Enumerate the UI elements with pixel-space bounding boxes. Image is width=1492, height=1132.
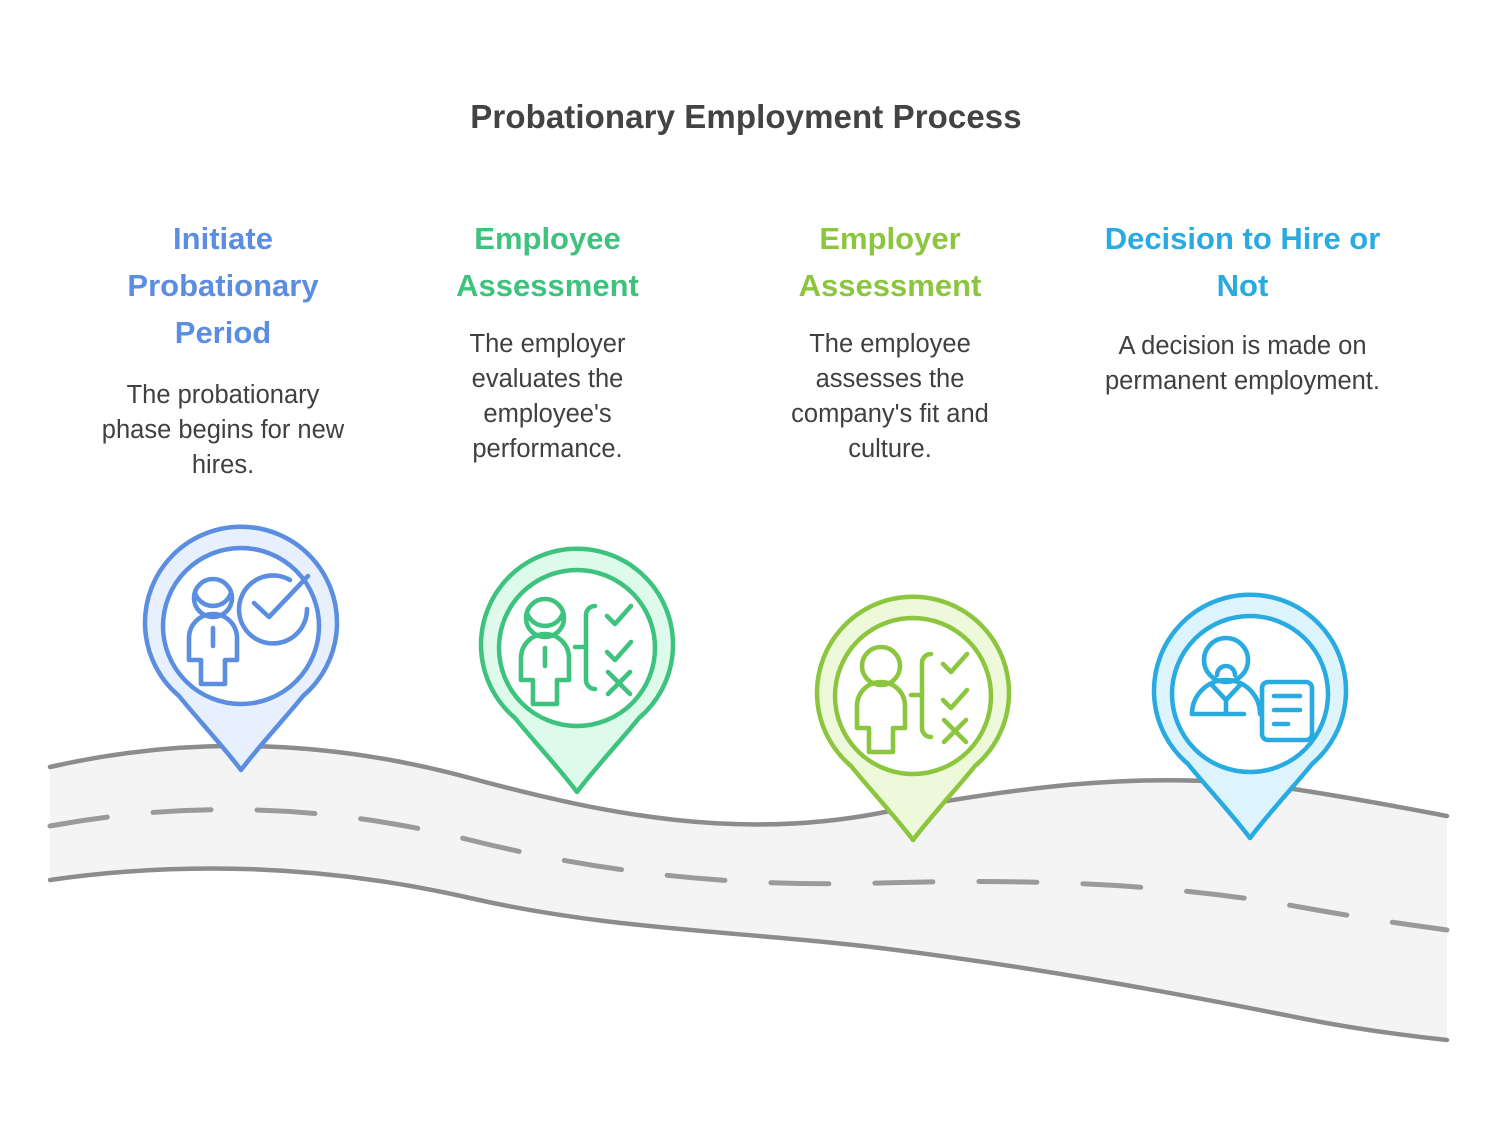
pin-4-inner-ring (1172, 616, 1328, 772)
infographic-canvas: Probationary Employment Process Initiate… (0, 0, 1492, 1132)
